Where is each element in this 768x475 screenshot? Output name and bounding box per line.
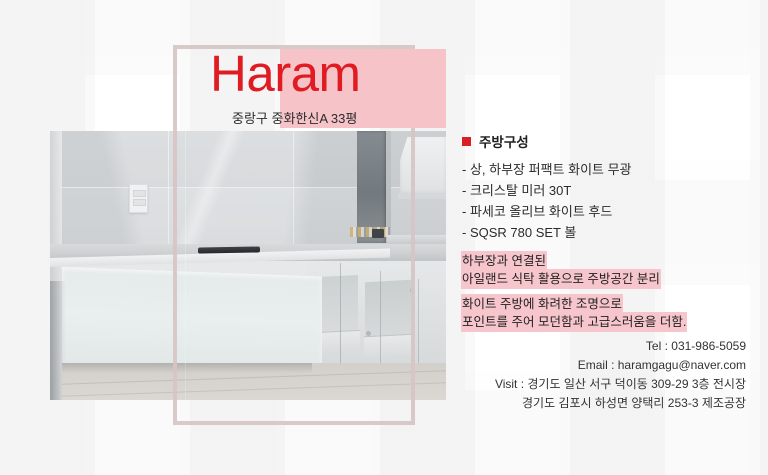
description-line: 하부장과 연결된 — [462, 252, 546, 270]
spec-item: - SQSR 780 SET 볼 — [462, 222, 762, 243]
poster-canvas: Haram 중랑구 중화한신A 33평 주방구성 - 상, 하부장 퍼팩트 화이… — [0, 0, 768, 475]
description-section: 하부장과 연결된 아일랜드 식탁 활용으로 주방공간 분리 화이트 주방에 화려… — [462, 252, 762, 331]
spec-heading: 주방구성 — [462, 131, 762, 151]
spec-heading-label: 주방구성 — [479, 131, 529, 151]
spec-item: - 파세코 올리브 화이트 후드 — [462, 201, 762, 222]
brand-subtitle: 중랑구 중화한신A 33평 — [232, 108, 357, 127]
description-line: 포인트를 주어 모던함과 고급스러움을 더함. — [462, 313, 686, 331]
brand-title: Haram — [210, 48, 361, 99]
description-line: 아일랜드 식탁 활용으로 주방공간 분리 — [462, 270, 660, 288]
contact-section: Tel : 031-986-5059 Email : haramgagu@nav… — [326, 337, 746, 413]
red-square-bullet-icon — [462, 137, 471, 146]
contact-showroom-address: Visit : 경기도 일산 서구 덕이동 309-29 3층 전시장 — [326, 375, 746, 394]
description-row: 하부장과 연결된 — [462, 252, 762, 270]
description-spacer — [462, 288, 762, 295]
spec-item: - 상, 하부장 퍼팩트 화이트 무광 — [462, 159, 762, 180]
contact-factory-address: 경기도 김포시 하성면 양택리 253-3 제조공장 — [326, 394, 746, 413]
spec-section: 주방구성 - 상, 하부장 퍼팩트 화이트 무광 - 크리스탈 미러 30T -… — [462, 131, 762, 243]
contact-email: Email : haramgagu@naver.com — [326, 356, 746, 375]
description-line: 화이트 주방에 화려한 조명으로 — [462, 295, 622, 313]
description-row: 화이트 주방에 화려한 조명으로 — [462, 295, 762, 313]
description-row: 아일랜드 식탁 활용으로 주방공간 분리 — [462, 270, 762, 288]
contact-phone: Tel : 031-986-5059 — [326, 337, 746, 356]
spec-item: - 크리스탈 미러 30T — [462, 180, 762, 201]
description-row: 포인트를 주어 모던함과 고급스러움을 더함. — [462, 313, 762, 331]
